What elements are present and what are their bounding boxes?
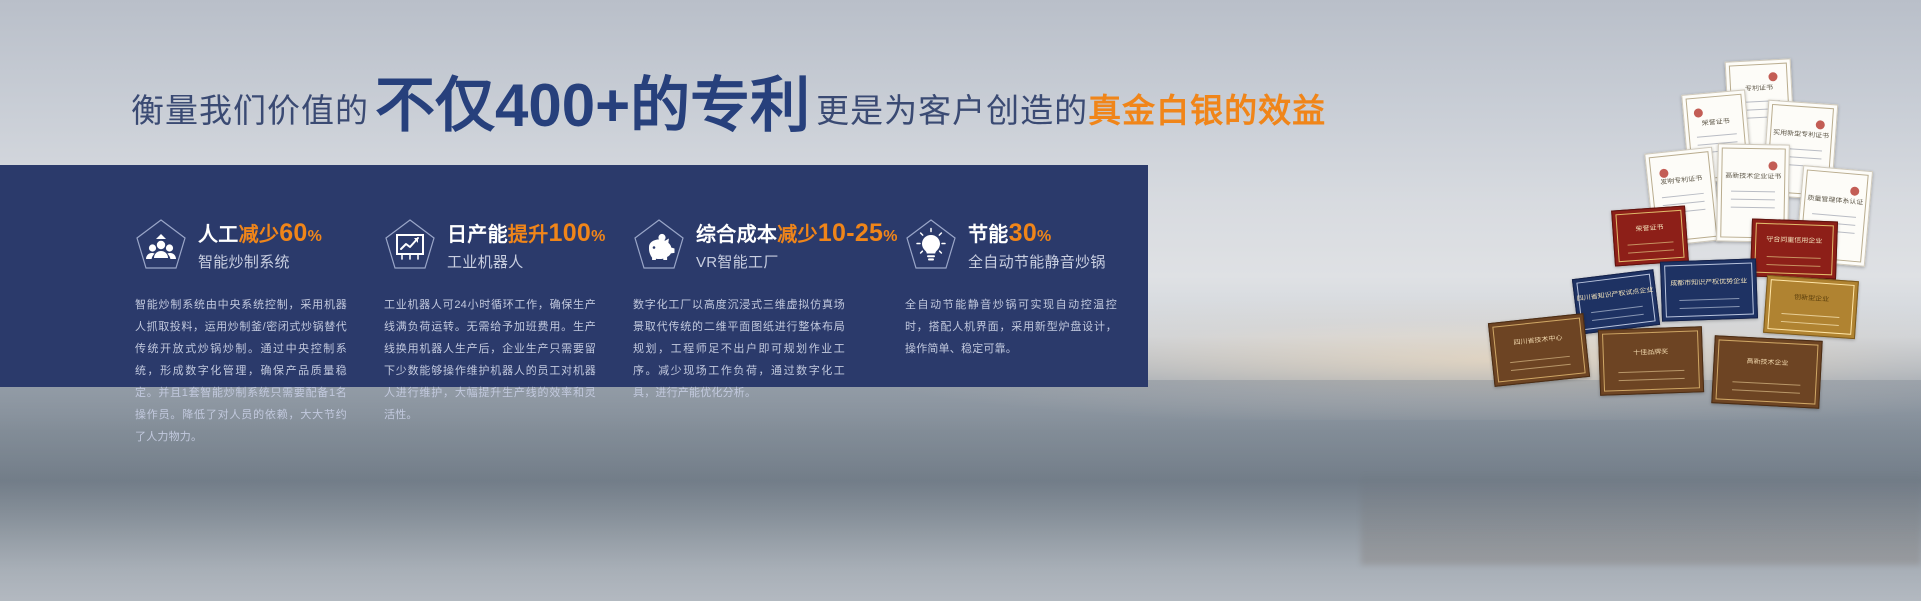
feature-title-unit: %	[591, 228, 606, 245]
certificate-item: 创新型企业	[1763, 275, 1859, 339]
feature-titles: 日产能提升100% 工业机器人	[447, 218, 606, 275]
feature-titles: 节能30% 全自动节能静音炒锅	[968, 218, 1106, 275]
feature-body: 数字化工厂以高度沉浸式三维虚拟仿真场景取代传统的二维平面图纸进行整体布局规划，工…	[633, 294, 845, 404]
people-group-icon	[135, 218, 187, 274]
feature-title: 人工减少60%	[198, 218, 322, 249]
feature-header: 人工减少60% 智能炒制系统	[135, 217, 374, 275]
feature-title-number: 60	[279, 219, 307, 247]
headline-middle: 更是为客户创造的	[816, 84, 1088, 132]
lightbulb-icon	[905, 218, 957, 274]
feature-title-lead: 节能	[968, 224, 1009, 246]
certificate-pile: 专利证书 荣誉证书 实用新型专利证书 发明专利证书 高新技术企业证书 质量管理体…	[1361, 28, 1921, 488]
feature-title-lead: 日产能	[447, 224, 508, 246]
feature-titles: 人工减少60% 智能炒制系统	[198, 218, 322, 275]
chart-board-icon	[384, 218, 436, 274]
feature-title: 综合成本减少10-25%	[696, 218, 898, 249]
feature-titles: 综合成本减少10-25% VR智能工厂	[696, 218, 898, 275]
feature-header: 日产能提升100% 工业机器人	[384, 217, 623, 275]
certificate-item: 守合同重信用企业	[1750, 219, 1838, 280]
piggy-bank-icon	[633, 218, 685, 274]
feature-title-number: 30	[1009, 219, 1037, 247]
certificate-item: 四川省知识产权试点企业	[1572, 269, 1660, 335]
feature-item[interactable]: 人工减少60% 智能炒制系统 智能炒制系统由中央系统控制，采用机器人抓取投料，运…	[135, 165, 374, 387]
feature-subtitle: 全自动节能静音炒锅	[968, 252, 1106, 275]
features-list: 人工减少60% 智能炒制系统 智能炒制系统由中央系统控制，采用机器人抓取投料，运…	[0, 165, 1148, 387]
certificate-item: 四川省技术中心	[1488, 313, 1590, 387]
banner-stage: 衡量我们价值的 不仅400+的专利 更是为客户创造的 真金白银的效益	[0, 0, 1921, 601]
feature-header: 综合成本减少10-25% VR智能工厂	[633, 217, 895, 275]
page-title: 衡量我们价值的 不仅400+的专利 更是为客户创造的 真金白银的效益	[131, 72, 1326, 132]
feature-subtitle: VR智能工厂	[696, 252, 898, 275]
feature-subtitle: 工业机器人	[447, 252, 606, 275]
feature-title-amount: 提升	[508, 224, 549, 246]
certificate-item: 十佳品牌奖	[1598, 326, 1704, 396]
feature-item[interactable]: 节能30% 全自动节能静音炒锅 全自动节能静音炒锅可实现自动控温控时，搭配人机界…	[905, 165, 1144, 387]
feature-title-number: 10-25	[818, 219, 883, 247]
feature-title-amount: 减少	[239, 224, 280, 246]
feature-title: 日产能提升100%	[447, 218, 606, 249]
feature-header: 节能30% 全自动节能静音炒锅	[905, 217, 1144, 275]
certificate-item: 成都市知识产权优势企业	[1660, 258, 1758, 321]
certificate-item: 高新技术企业	[1711, 335, 1822, 409]
feature-title-unit: %	[883, 228, 898, 245]
feature-subtitle: 智能炒制系统	[198, 252, 322, 275]
headline-lead: 衡量我们价值的	[131, 84, 369, 132]
feature-title-unit: %	[308, 228, 323, 245]
feature-body: 全自动节能静音炒锅可实现自动控温控时，搭配人机界面，采用新型炉盘设计，操作简单、…	[905, 294, 1117, 360]
certificate-item: 荣誉证书	[1611, 205, 1689, 266]
certificate-caption: 高新技术企业证书	[1718, 172, 1788, 181]
feature-body: 工业机器人可24小时循环工作，确保生产线满负荷运转。无需给予加班费用。生产线换用…	[384, 294, 596, 426]
headline-emphasis: 不仅400+的专利	[375, 76, 810, 136]
feature-title: 节能30%	[968, 218, 1106, 249]
feature-title-lead: 人工	[198, 224, 239, 246]
headline-accent: 真金白银的效益	[1088, 84, 1326, 132]
feature-item[interactable]: 综合成本减少10-25% VR智能工厂 数字化工厂以高度沉浸式三维虚拟仿真场景取…	[633, 165, 895, 387]
feature-title-number: 100	[549, 219, 592, 247]
feature-item[interactable]: 日产能提升100% 工业机器人 工业机器人可24小时循环工作，确保生产线满负荷运…	[384, 165, 623, 387]
feature-title-unit: %	[1037, 228, 1052, 245]
feature-body: 智能炒制系统由中央系统控制，采用机器人抓取投料，运用炒制釜/密闭式炒锅替代传统开…	[135, 294, 347, 448]
feature-title-amount: 减少	[777, 224, 818, 246]
feature-title-lead: 综合成本	[696, 224, 777, 246]
